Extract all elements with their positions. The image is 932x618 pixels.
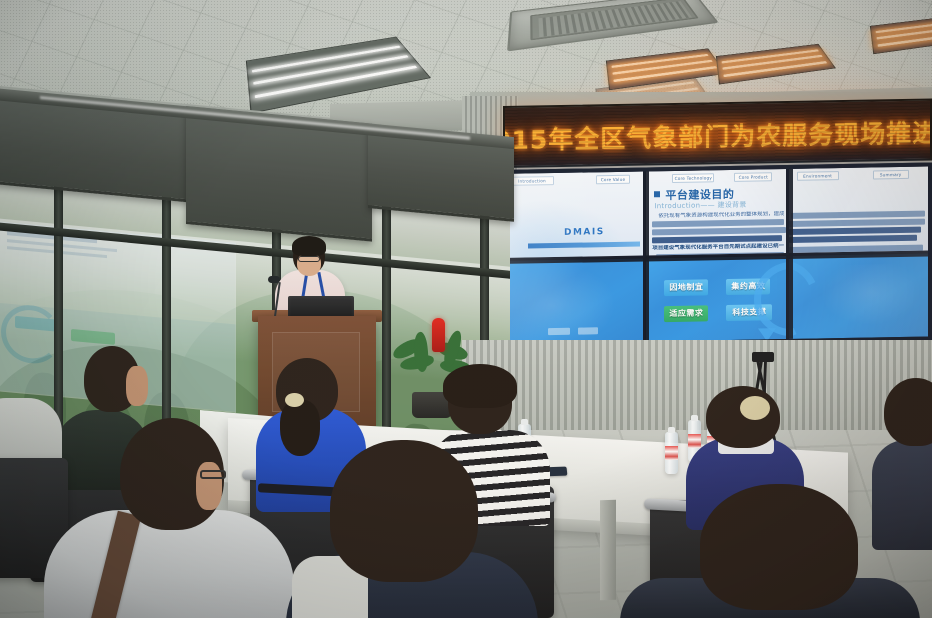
video-wall-panel — [504, 258, 643, 344]
conference-room-photo: 2015年全区气象部门为农服务现场推进会 Introduction Core V… — [0, 0, 932, 618]
slide-body-line — [789, 227, 921, 235]
plant-flower — [432, 318, 445, 352]
video-wall-panel: Core Technology Core Product 平台建设目的 Intr… — [646, 169, 785, 255]
eyeglasses-icon — [298, 256, 320, 262]
slide-nav-tab[interactable]: Core Technology — [672, 173, 714, 183]
slide-logo: DMAIS — [564, 227, 605, 238]
led-banner: 2015年全区气象部门为农服务现场推进会 — [503, 99, 932, 168]
hair-accessory — [740, 396, 770, 420]
audience-hair — [443, 364, 517, 408]
video-wall-panel: 因地制宜 适应需求 集约高效 科技支撑 — [646, 256, 785, 342]
microphone-icon — [268, 276, 280, 283]
audience-face — [126, 366, 148, 406]
slide-body-line — [791, 211, 925, 219]
eyeglasses-icon — [200, 470, 226, 479]
water-bottle[interactable] — [665, 432, 678, 474]
audience-head — [700, 484, 858, 610]
led-scanlines — [505, 100, 932, 168]
hair-accessory — [285, 393, 304, 407]
slide-bullet-marker — [654, 191, 660, 197]
slide-footer-chip — [578, 327, 598, 334]
slide-arrow-head — [758, 328, 776, 341]
presenter-hair — [292, 236, 326, 256]
video-wall[interactable]: Introduction Core Value DMAIS Core Techn… — [500, 162, 932, 348]
slide-key-button[interactable]: 因地制宜 — [664, 279, 708, 296]
slide-glow — [504, 258, 643, 344]
audience-ponytail — [280, 400, 320, 456]
slide-nav-tab[interactable]: Summary — [873, 170, 909, 180]
slide-key-button[interactable]: 适应需求 — [664, 305, 708, 322]
video-wall-panel: Introduction Core Value DMAIS — [504, 171, 643, 257]
slide-nav-tab[interactable]: Core Product — [734, 172, 772, 182]
camera-tripod-head[interactable] — [752, 352, 774, 362]
slide-body-line: 项目建设气象现代化服务平台自先期试点起建设已统一的数据库，包含基础气象、专业气象… — [652, 243, 784, 252]
slide-body-line — [789, 245, 923, 253]
slide-body-line — [652, 235, 782, 243]
slide-footer-chip — [548, 328, 570, 335]
slide-body-line — [789, 219, 925, 227]
video-wall-panel — [789, 253, 928, 339]
audience-head — [706, 386, 780, 448]
slide-body-line — [652, 219, 784, 227]
video-wall-panel: Environment Summary — [789, 167, 928, 253]
audience-body — [872, 440, 932, 550]
audience-head — [330, 440, 478, 582]
slide-glow — [799, 263, 919, 335]
slide-body-line — [652, 227, 785, 235]
table-leg — [600, 500, 616, 601]
slide-body-line — [789, 235, 917, 243]
slide-subtitle: Introduction—— 建设背景 — [654, 200, 746, 212]
slide-nav-tab[interactable]: Environment — [797, 171, 839, 181]
slide-arrow-circle — [754, 261, 785, 336]
